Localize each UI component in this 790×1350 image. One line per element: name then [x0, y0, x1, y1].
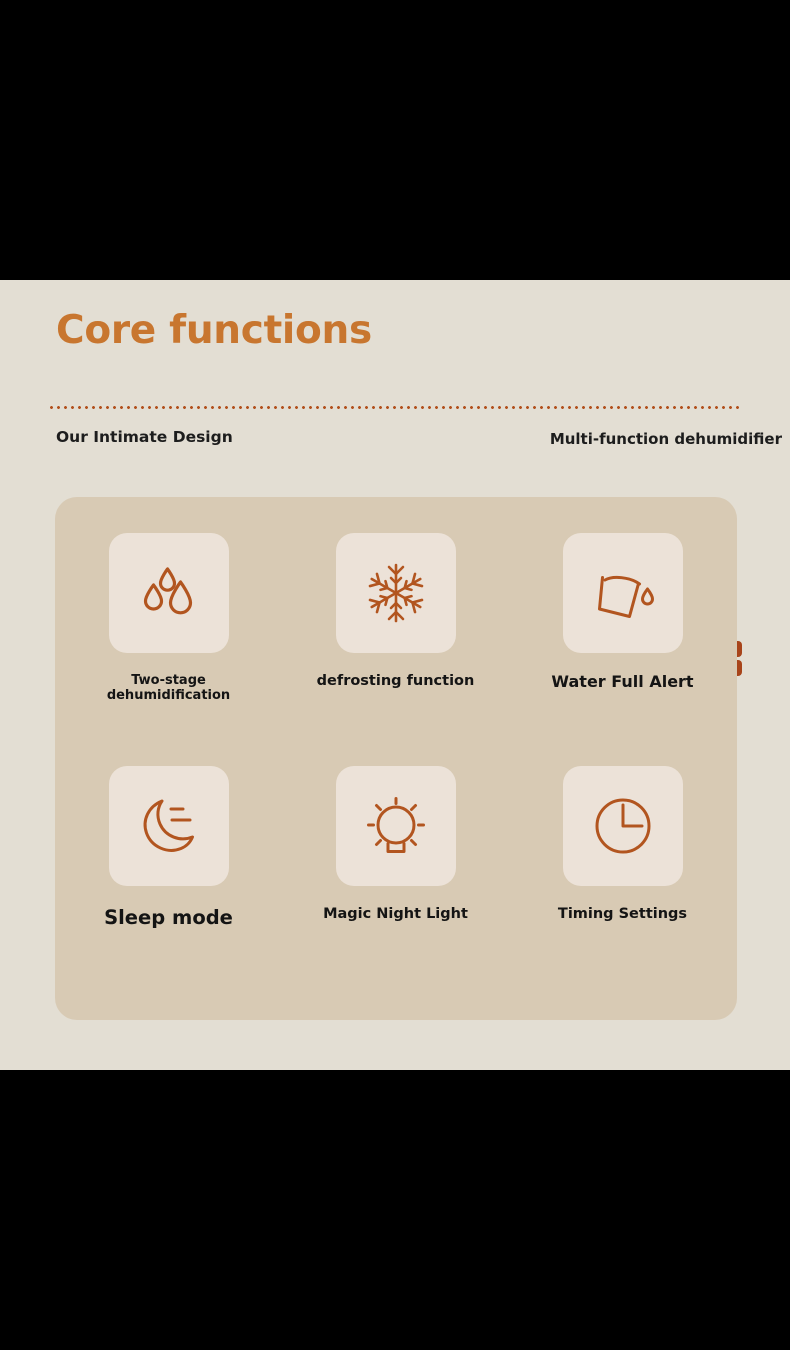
- feature-label-line-1: Two-stage: [61, 673, 276, 688]
- icon-tile-defrosting-function[interactable]: [336, 533, 456, 653]
- icon-tile-water-full-alert[interactable]: [563, 533, 683, 653]
- slide-page: Core functions Our Intimate Design Multi…: [0, 280, 790, 1070]
- icon-tile-magic-night-light[interactable]: [336, 766, 456, 886]
- water-bucket-full-icon: [586, 556, 660, 630]
- dotted-divider: [48, 406, 742, 409]
- subtitle-right: Multi-function dehumidifier: [550, 430, 782, 448]
- snowflake-icon: [360, 557, 432, 629]
- clock-icon: [586, 789, 660, 863]
- feature-label-timing-settings: Timing Settings: [509, 906, 736, 923]
- crescent-moon-icon: [132, 789, 206, 863]
- icon-tile-timing-settings[interactable]: [563, 766, 683, 886]
- feature-grid: Two-stage dehumidification: [55, 497, 737, 1020]
- feature-label-two-stage-dehumidification: Two-stage dehumidification: [55, 673, 282, 704]
- screenshot-stage: Core functions Our Intimate Design Multi…: [0, 0, 790, 1350]
- feature-label-water-full-alert: Water Full Alert: [509, 673, 736, 692]
- feature-cell-defrosting-function[interactable]: defrosting function: [282, 497, 509, 759]
- page-title: Core functions: [56, 308, 372, 353]
- subtitle-left: Our Intimate Design: [56, 428, 233, 446]
- feature-cell-timing-settings[interactable]: Timing Settings: [509, 730, 736, 992]
- letterbox-bar-top: [0, 0, 790, 280]
- feature-label-magic-night-light: Magic Night Light: [282, 906, 509, 923]
- feature-cell-two-stage-dehumidification[interactable]: Two-stage dehumidification: [55, 497, 282, 759]
- icon-tile-sleep-mode[interactable]: [109, 766, 229, 886]
- feature-cell-water-full-alert[interactable]: Water Full Alert: [509, 497, 736, 759]
- feature-cell-magic-night-light[interactable]: Magic Night Light: [282, 730, 509, 992]
- icon-tile-two-stage-dehumidification[interactable]: [109, 533, 229, 653]
- feature-cell-sleep-mode[interactable]: Sleep mode: [55, 730, 282, 992]
- letterbox-bar-bottom: [0, 1070, 790, 1350]
- night-light-bulb-icon: [359, 789, 433, 863]
- feature-panel: Two-stage dehumidification: [55, 497, 737, 1020]
- feature-label-defrosting-function: defrosting function: [282, 673, 509, 690]
- page-header: Core functions Our Intimate Design Multi…: [0, 280, 790, 480]
- feature-label-line-2: dehumidification: [61, 688, 276, 703]
- water-droplets-icon: [132, 556, 206, 630]
- feature-label-sleep-mode: Sleep mode: [55, 906, 282, 929]
